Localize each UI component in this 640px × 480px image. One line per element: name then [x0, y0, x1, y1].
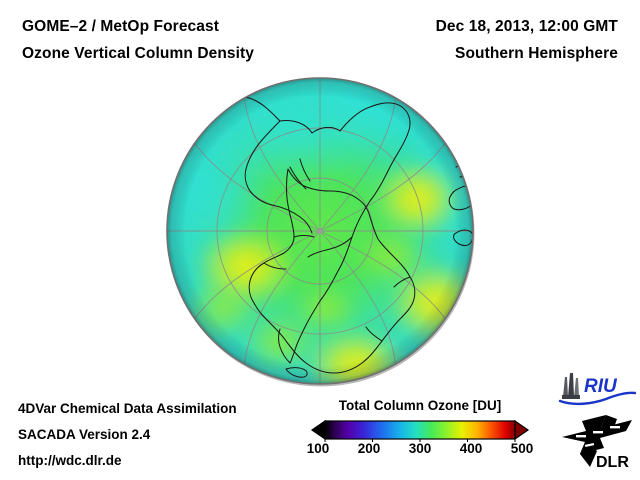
colorbar — [306, 418, 534, 442]
page-title: GOME–2 / MetOp Forecast — [22, 18, 219, 36]
timestamp-label: Dec 18, 2013, 12:00 GMT — [436, 18, 618, 36]
colorbar-tick-500: 500 — [511, 441, 534, 456]
ozone-field — [160, 71, 480, 391]
colorbar-gradient-bar — [325, 421, 515, 439]
globe-svg — [160, 71, 480, 391]
riu-wordmark: RIU — [584, 376, 618, 397]
colorbar-svg — [306, 418, 534, 442]
region-label: Southern Hemisphere — [455, 45, 618, 63]
footer-url-link[interactable]: http://wdc.dlr.de — [18, 453, 122, 468]
riu-towers-icon — [562, 373, 580, 399]
footer-version-label: SACADA Version 2.4 — [18, 427, 150, 442]
footer-method-label: 4DVar Chemical Data Assimilation — [18, 401, 237, 416]
page-subtitle: Ozone Vertical Column Density — [22, 45, 254, 63]
riu-logo: RIU — [558, 371, 636, 407]
globe-map — [160, 71, 480, 391]
colorbar-tick-400: 400 — [460, 441, 483, 456]
colorbar-tick-100: 100 — [307, 441, 330, 456]
visualization-canvas: GOME–2 / MetOp Forecast Ozone Vertical C… — [0, 0, 640, 480]
colorbar-tick-labels: 100200300400500 — [312, 441, 528, 463]
colorbar-tick-200: 200 — [358, 441, 381, 456]
colorbar-tick-300: 300 — [409, 441, 432, 456]
dlr-wordmark: DLR — [596, 454, 629, 471]
riu-logo-svg: RIU — [558, 371, 636, 407]
dlr-logo: DLR — [560, 411, 636, 471]
dlr-logo-svg: DLR — [560, 411, 636, 471]
colorbar-min-arrow — [312, 421, 325, 439]
colorbar-max-arrow — [515, 421, 528, 439]
colorbar-title: Total Column Ozone [DU] — [312, 398, 528, 413]
